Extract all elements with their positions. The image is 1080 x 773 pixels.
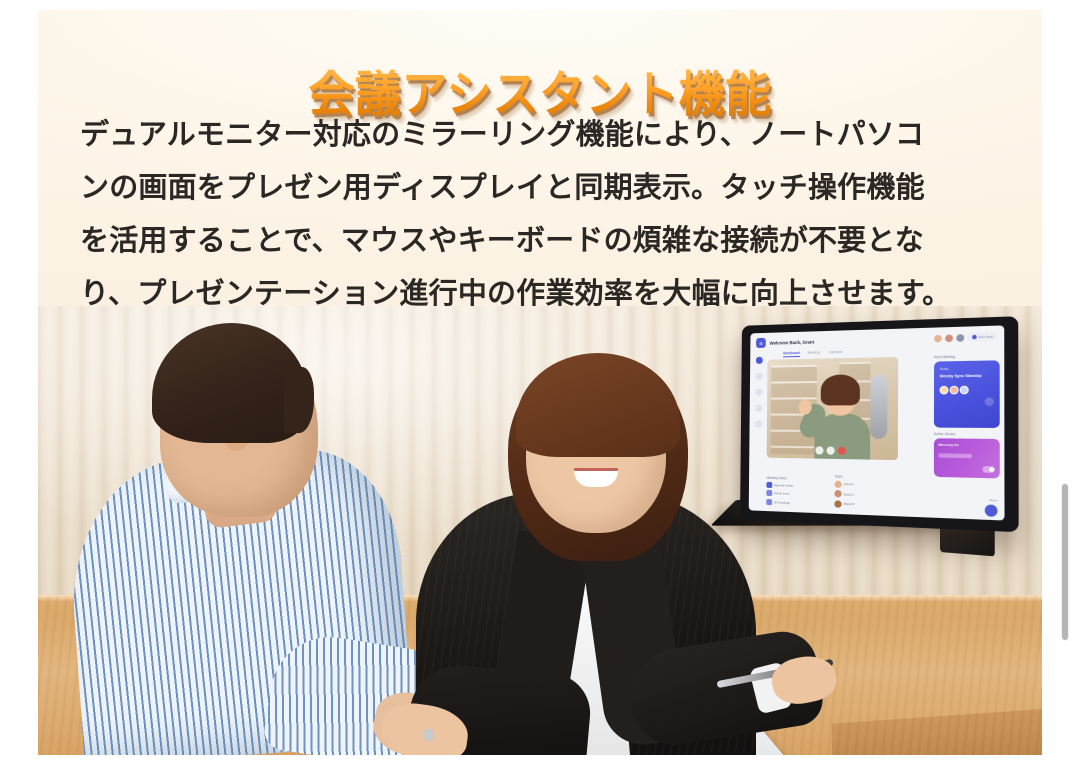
tab-meetings[interactable]: Meetings — [808, 350, 821, 356]
tab-calendar[interactable]: Calendar — [829, 350, 842, 356]
sidebar-item-settings[interactable] — [755, 421, 762, 428]
avatar[interactable] — [934, 334, 942, 342]
camera-icon[interactable] — [826, 446, 834, 454]
plus-icon[interactable] — [985, 504, 998, 517]
list-item-label: David L. — [844, 492, 855, 497]
dashboard-app: G Welcome Back, Grant Join Now — [749, 325, 1005, 520]
description-line-3: を活用することで、マウスやキーボードの煩雑な接続が不要とな — [80, 214, 1000, 267]
app-logo-icon: G — [756, 338, 766, 348]
description-line-1: デュアルモニター対応のミラーリング機能により、ノートパソコ — [80, 108, 1000, 161]
video-bg-lamp — [870, 374, 887, 439]
check-icon — [766, 498, 772, 504]
video-icon — [972, 335, 977, 339]
sidebar-item-files[interactable] — [755, 405, 762, 412]
toggle-on-icon[interactable] — [982, 466, 995, 473]
join-now-button[interactable]: Join Now — [967, 332, 997, 341]
avatar[interactable] — [956, 334, 964, 342]
video-person-hair — [821, 374, 860, 405]
tab-dashboard[interactable]: Dashboard — [783, 351, 800, 357]
list-item-label: Anna K. — [844, 482, 855, 486]
attendee-avatars — [940, 385, 994, 394]
monitor-screen[interactable]: G Welcome Back, Grant Join Now — [749, 325, 1005, 520]
check-icon — [766, 481, 772, 487]
portable-monitor[interactable]: G Welcome Back, Grant Join Now — [728, 324, 1028, 586]
more-label: More — [985, 498, 998, 503]
mic-icon[interactable] — [815, 446, 823, 454]
list-item-label: Action items — [774, 491, 790, 496]
sidebar-item-calendar[interactable] — [755, 373, 762, 380]
active-device-kicker: Mirroring On — [938, 443, 995, 448]
header-actions: Join Now — [934, 332, 998, 342]
welcome-heading: Welcome Back, Grant — [770, 339, 815, 345]
list-item-label: Q3 roadmap — [774, 500, 790, 505]
next-meeting-card[interactable]: Today Weekly Sync Standup — [934, 360, 1000, 428]
list-item[interactable]: Q3 roadmap — [766, 498, 826, 506]
more-panel: More — [985, 498, 998, 517]
sidebar-item-chat[interactable] — [755, 389, 762, 396]
list-item-label: Maya R. — [844, 502, 855, 507]
video-person-hand — [799, 399, 812, 414]
arrow-right-icon[interactable] — [985, 397, 994, 406]
list-item[interactable]: David L. — [834, 490, 893, 499]
list-item[interactable]: Anna K. — [834, 480, 893, 489]
person-man — [74, 325, 434, 755]
list-item[interactable]: Action items — [766, 490, 826, 498]
scrollbar[interactable] — [1060, 470, 1070, 700]
next-meeting-title: Next Meeting — [934, 354, 1000, 360]
article-content: 会議アシスタント機能 デュアルモニター対応のミラーリング機能により、ノートパソコ… — [38, 10, 1042, 755]
team-title: Team — [835, 474, 894, 480]
page-root: 会議アシスタント機能 デュアルモニター対応のミラーリング機能により、ノートパソコ… — [0, 0, 1080, 773]
call-controls[interactable] — [815, 446, 846, 455]
list-item[interactable]: Maya R. — [834, 500, 893, 509]
avatar — [834, 490, 841, 497]
avatar — [834, 500, 841, 508]
right-rail: Next Meeting Today Weekly Sync Standup A… — [934, 354, 1000, 479]
woman-hair-front — [516, 353, 680, 457]
monitor-body: G Welcome Back, Grant Join Now — [740, 316, 1019, 532]
app-sidebar — [751, 357, 765, 428]
description-line-2: ンの画面をプレゼン用ディスプレイと同期表示。タッチ操作機能 — [80, 161, 1000, 214]
app-header: G Welcome Back, Grant Join Now — [750, 325, 1004, 353]
scrollbar-thumb[interactable] — [1062, 484, 1068, 640]
progress-bar — [938, 453, 972, 458]
avatar[interactable] — [945, 334, 953, 342]
sidebar-item-home[interactable] — [755, 357, 762, 364]
list-item-label: Agenda review — [774, 483, 793, 488]
avatar — [834, 480, 841, 487]
product-photo: G Welcome Back, Grant Join Now — [38, 306, 1042, 755]
description-paragraph: デュアルモニター対応のミラーリング機能により、ノートパソコ ンの画面をプレゼン用… — [80, 108, 1000, 320]
woman-ring — [424, 729, 434, 741]
person-woman — [416, 355, 776, 755]
list-item[interactable]: Agenda review — [766, 481, 826, 489]
next-meeting-kicker: Today — [940, 366, 994, 371]
app-tabs: Dashboard Meetings Calendar — [783, 350, 842, 357]
join-now-label: Join Now — [979, 334, 993, 339]
meeting-notes-panel: Meeting Notes Agenda review Action items… — [766, 475, 826, 509]
end-call-icon[interactable] — [838, 447, 846, 455]
active-device-card[interactable]: Mirroring On — [934, 438, 1000, 478]
active-device-title: Active Device — [934, 432, 1000, 437]
video-call-panel[interactable] — [767, 357, 899, 460]
man-hair — [152, 323, 308, 443]
next-meeting-value: Weekly Sync Standup — [940, 373, 994, 379]
meeting-notes-title: Meeting Notes — [766, 475, 826, 481]
desk-edge — [832, 709, 1042, 755]
check-icon — [766, 490, 772, 496]
team-panel: Team Anna K. David L. Maya R. — [834, 474, 893, 512]
